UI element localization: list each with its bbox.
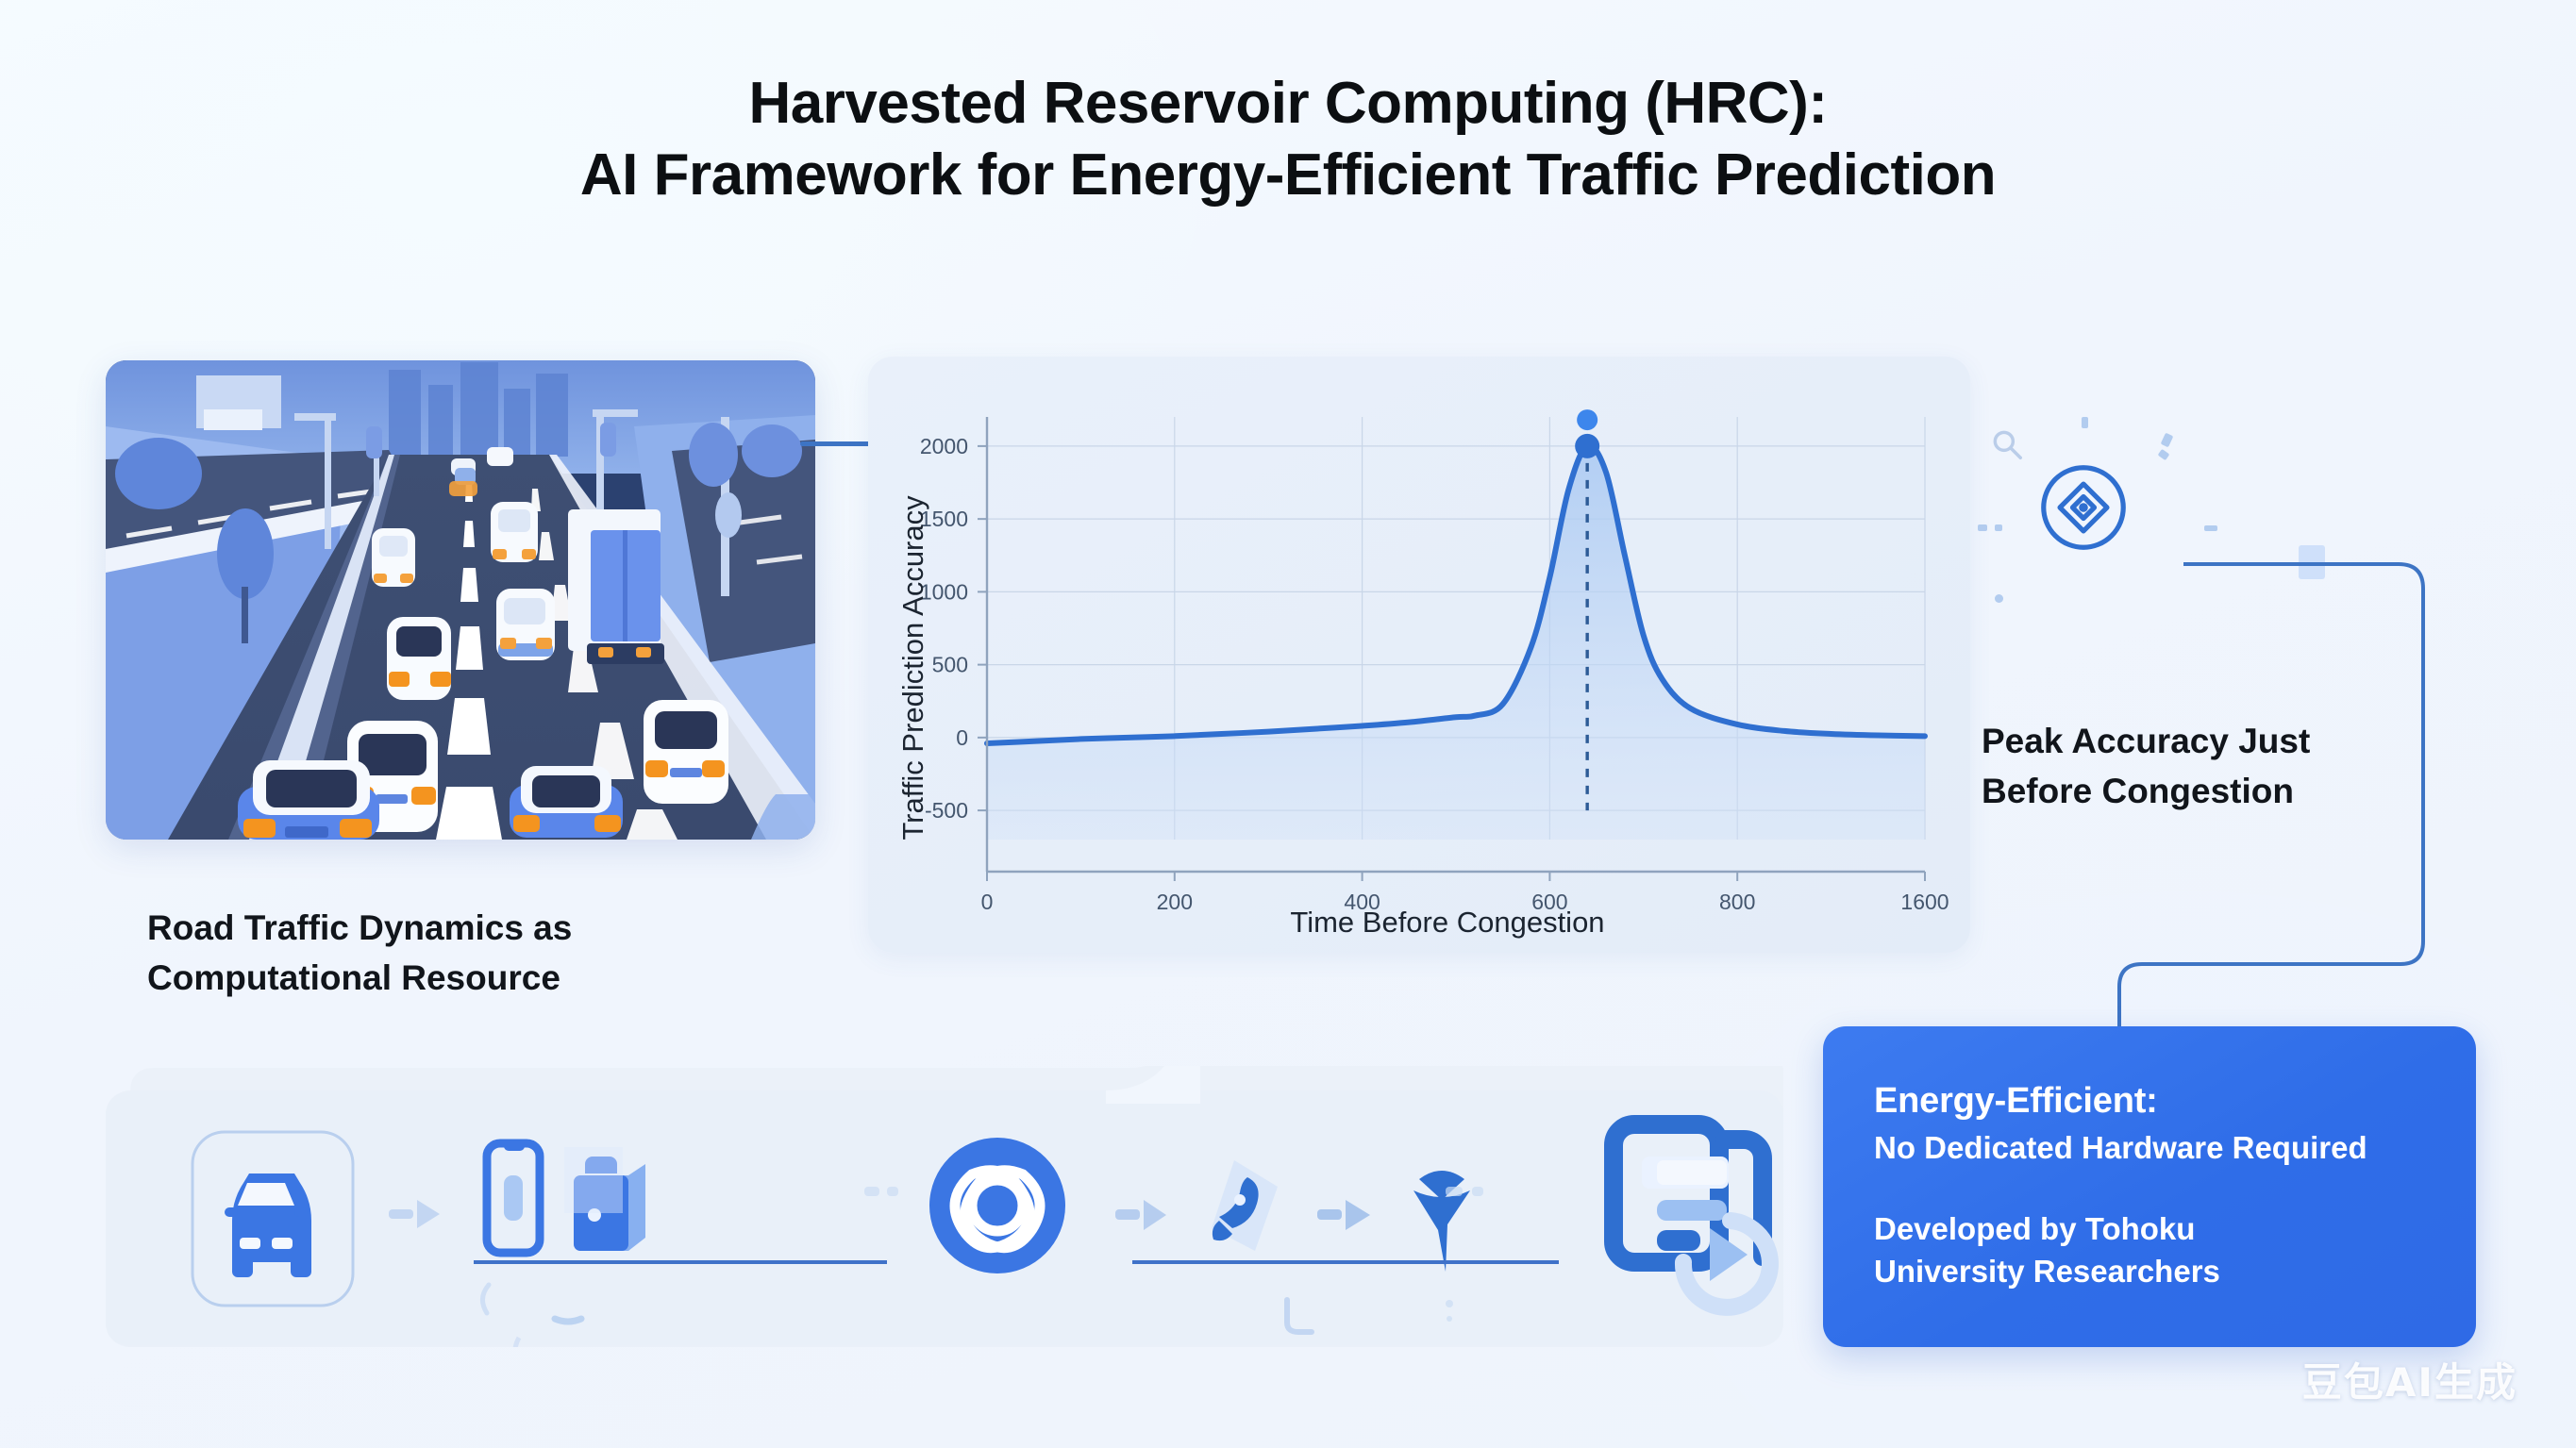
chart-area-fill bbox=[987, 445, 1925, 840]
peak-accuracy-note: Peak Accuracy Just Before Congestion bbox=[1982, 717, 2425, 816]
search-icon bbox=[1989, 426, 2025, 462]
title-line-2: AI Framework for Energy-Efficient Traffi… bbox=[0, 140, 2576, 211]
decor-dot-d bbox=[1978, 524, 1987, 531]
chart-plot: 02004006008001600 -5000500100015002000 T… bbox=[868, 357, 1970, 953]
chart-x-tick-label: 1600 bbox=[1900, 890, 1949, 914]
infographic-root: Harvested Reservoir Computing (HRC): AI … bbox=[0, 0, 2576, 1448]
chart-x-axis-label: Time Before Congestion bbox=[1290, 906, 1604, 939]
peak-note-line-1: Peak Accuracy Just bbox=[1982, 717, 2425, 767]
chart-y-axis-label: Traffic Prediction Accuracy bbox=[896, 495, 929, 841]
decor-dot-b bbox=[2161, 433, 2174, 448]
info-box-body-line-2: University Researchers bbox=[1874, 1251, 2425, 1293]
chart-line bbox=[987, 445, 1925, 743]
chart-y-tick-label: -500 bbox=[925, 798, 968, 823]
peak-marker-above bbox=[1577, 409, 1597, 430]
chart-y-tick-label: 500 bbox=[932, 653, 968, 677]
decor-square bbox=[2299, 545, 2325, 579]
info-box: Energy-Efficient: No Dedicated Hardware … bbox=[1823, 1026, 2476, 1347]
decor-dot-c bbox=[2158, 449, 2170, 460]
chart-y-ticks: -5000500100015002000 bbox=[920, 434, 987, 823]
peak-marker bbox=[1575, 434, 1599, 458]
info-box-body-line-1: Developed by Tohoku bbox=[1874, 1208, 2425, 1251]
pipeline-svg bbox=[106, 1066, 1783, 1347]
highway-traffic-illustration bbox=[106, 360, 815, 840]
info-box-heading: Energy-Efficient: bbox=[1874, 1079, 2425, 1124]
chart-x-tick-label: 800 bbox=[1719, 890, 1755, 914]
info-box-subheading: No Dedicated Hardware Required bbox=[1874, 1128, 2425, 1169]
watermark: 豆包AI生成 bbox=[2302, 1351, 2517, 1408]
decor-dot-e bbox=[1995, 524, 2002, 531]
pipeline-card bbox=[106, 1066, 1783, 1347]
page-title: Harvested Reservoir Computing (HRC): AI … bbox=[0, 68, 2576, 210]
diamond-in-circle-icon bbox=[2038, 462, 2129, 553]
chart-card: 02004006008001600 -5000500100015002000 T… bbox=[868, 357, 1970, 953]
chart-y-tick-label: 2000 bbox=[920, 434, 968, 458]
decor-dot-f bbox=[1995, 594, 2003, 603]
highway-scene-svg bbox=[106, 360, 815, 840]
photo-caption: Road Traffic Dynamics as Computational R… bbox=[147, 904, 751, 1003]
decor-dot-g bbox=[2204, 525, 2217, 531]
traffic-accuracy-chart: 02004006008001600 -5000500100015002000 T… bbox=[868, 357, 1970, 953]
chart-x-tick-label: 0 bbox=[981, 890, 994, 914]
peak-note-line-2: Before Congestion bbox=[1982, 767, 2425, 817]
chart-y-tick-label: 0 bbox=[956, 725, 968, 750]
chart-x-tick-label: 200 bbox=[1157, 890, 1193, 914]
decor-dot-a bbox=[2082, 417, 2088, 428]
title-line-1: Harvested Reservoir Computing (HRC): bbox=[0, 68, 2576, 140]
